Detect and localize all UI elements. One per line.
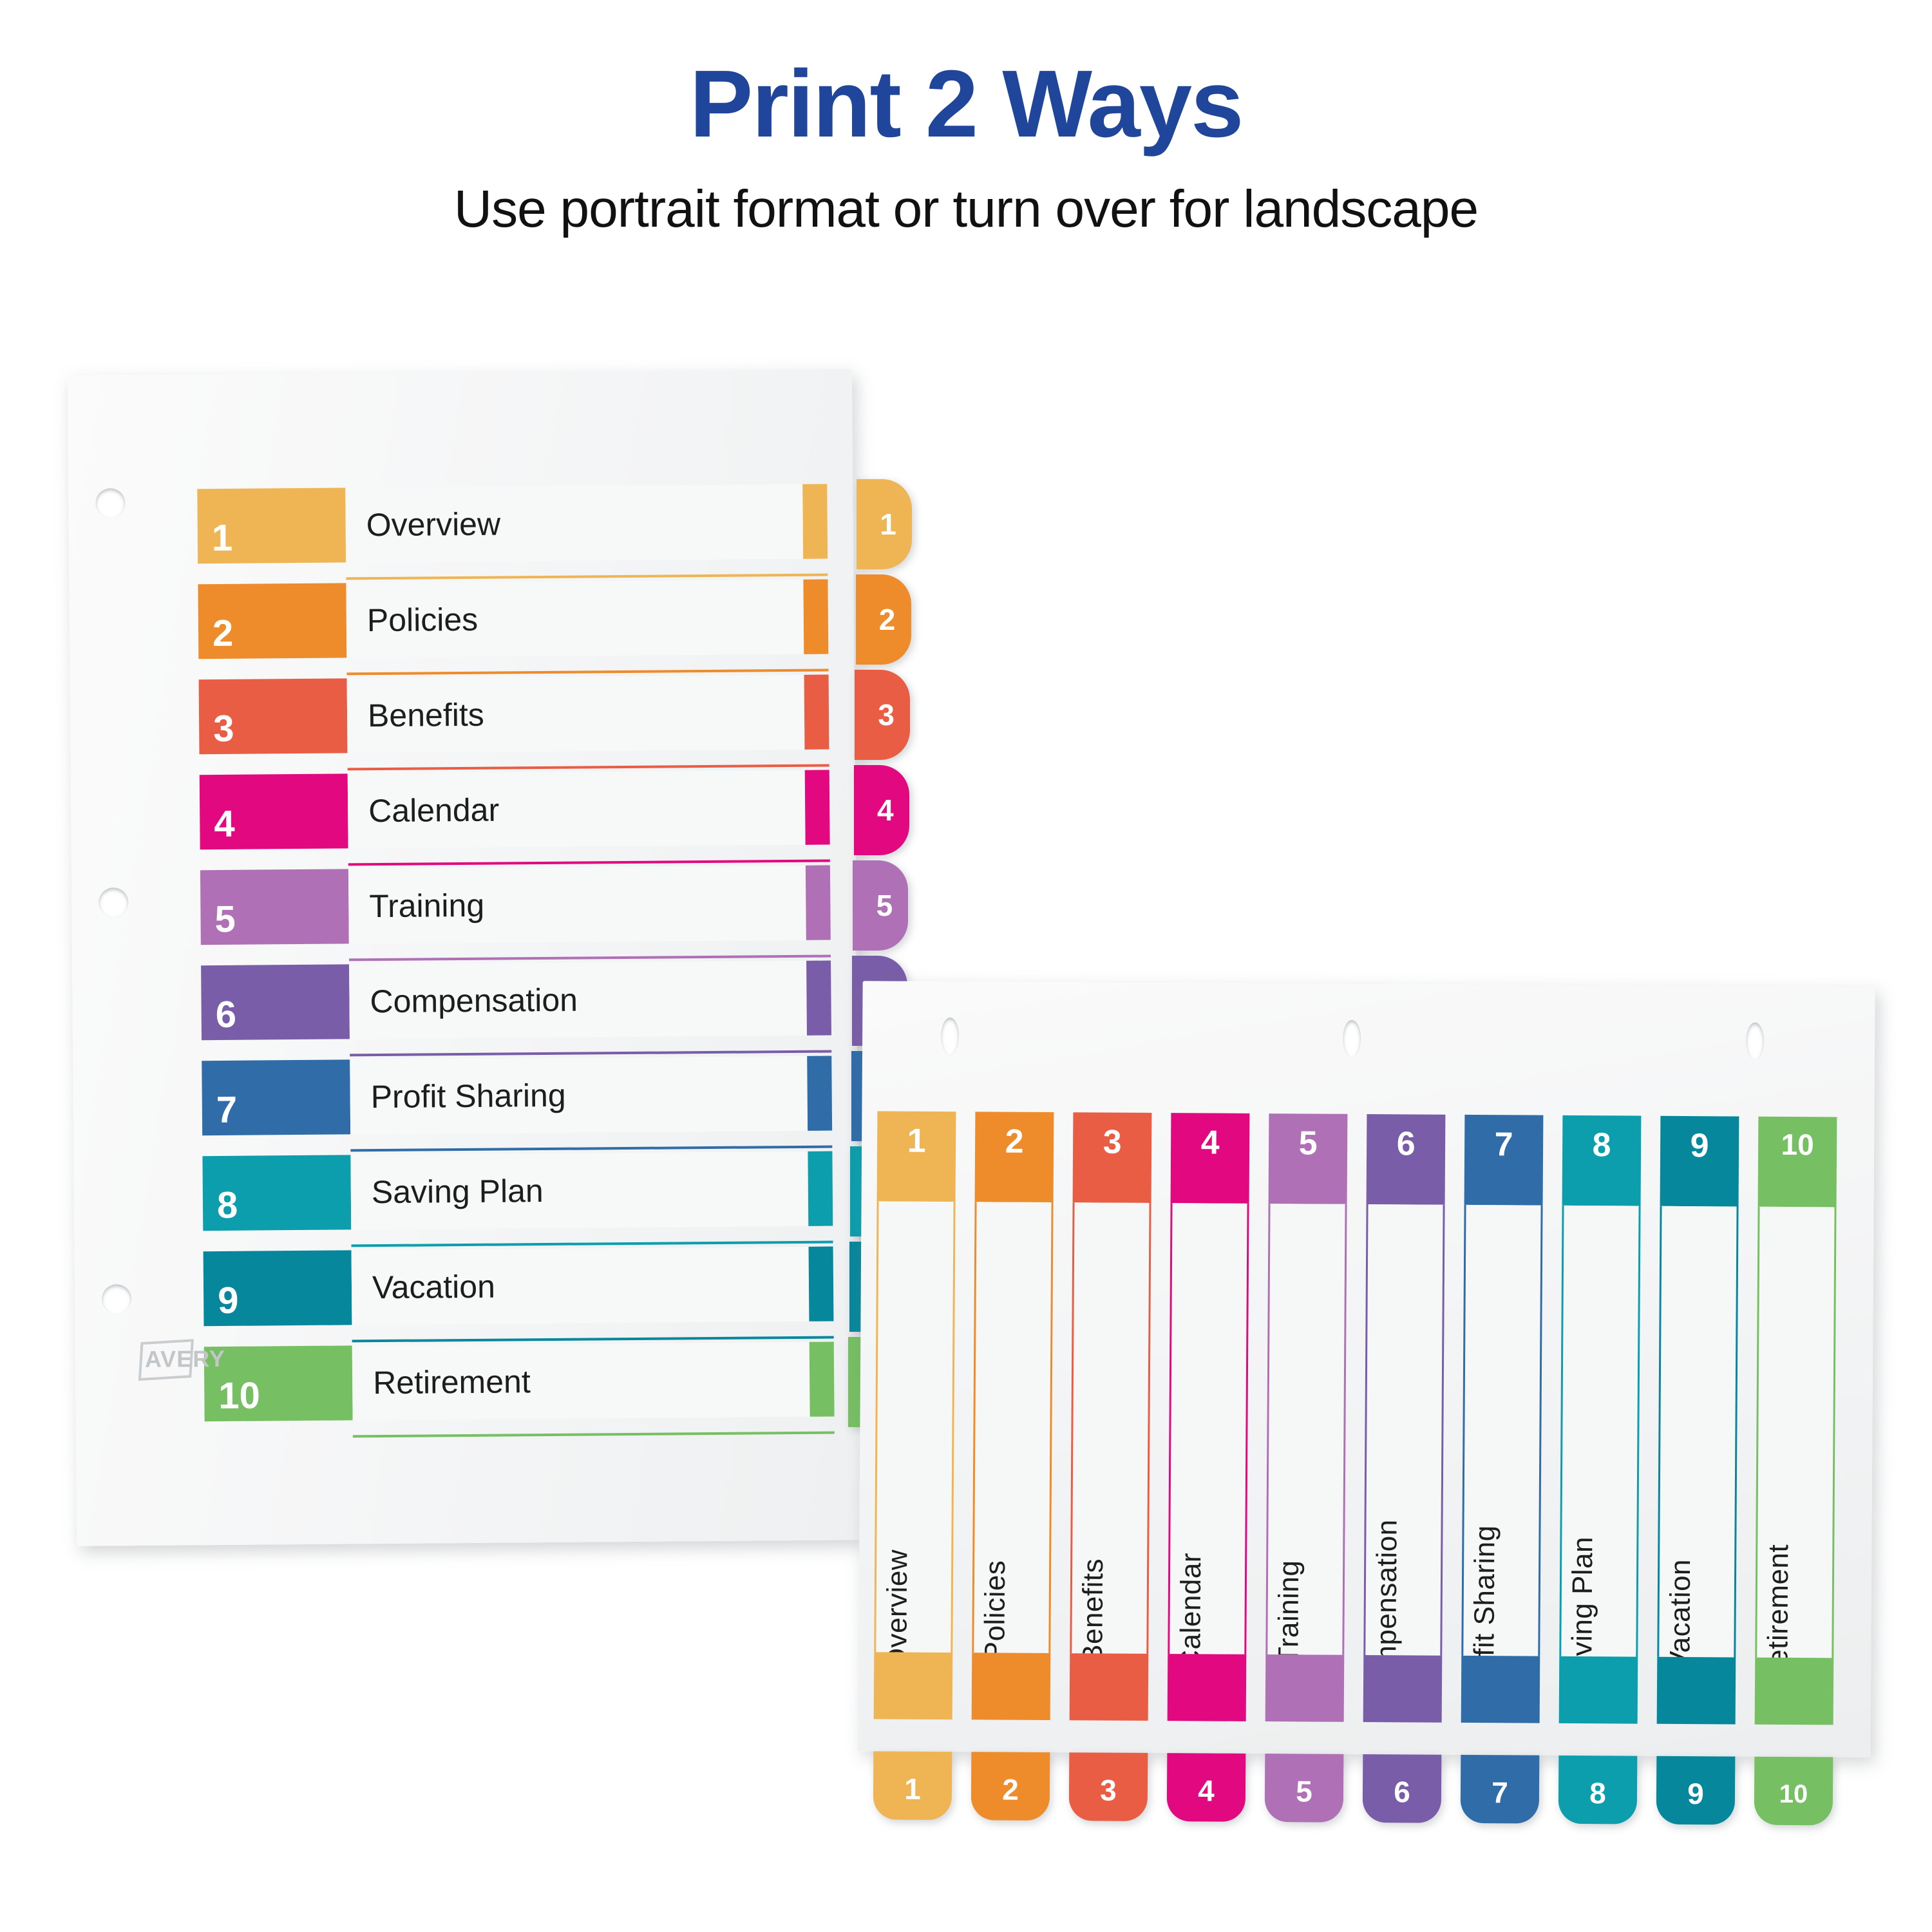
binder-hole-icon (95, 488, 125, 518)
divider-label: Profit Sharing (1468, 1525, 1502, 1656)
landscape-index-tab[interactable]: 1 (873, 1751, 952, 1820)
portrait-divider-row[interactable]: 8Saving Plan (202, 1146, 858, 1246)
binder-hole-icon (99, 887, 128, 917)
divider-foot-strip (874, 1652, 953, 1719)
landscape-divider-column[interactable]: 10Retirement (1754, 1117, 1837, 1748)
divider-edge-strip (804, 675, 829, 750)
divider-foot-strip (1265, 1654, 1345, 1722)
landscape-divider-column[interactable]: 4Calendar (1167, 1113, 1249, 1745)
divider-foot-strip (1363, 1655, 1443, 1723)
portrait-row-inner: 4Calendar (200, 770, 856, 849)
divider-label-panel: Overview (874, 1201, 955, 1653)
portrait-divider-row[interactable]: 6Compensation (201, 955, 857, 1056)
divider-number-block: 7 (202, 1059, 350, 1135)
divider-underline (353, 1432, 835, 1438)
divider-label: Training (1273, 1560, 1305, 1654)
header: Print 2 Ways Use portrait format or turn… (0, 0, 1932, 303)
divider-label-panel: Saving Plan (1559, 1206, 1640, 1657)
landscape-divider-column[interactable]: 3Benefits (1069, 1112, 1151, 1744)
portrait-row-inner: 6Compensation (201, 960, 857, 1040)
landscape-divider-column[interactable]: 6Compensation (1363, 1114, 1445, 1746)
divider-foot-strip (1070, 1653, 1149, 1721)
landscape-divider-column[interactable]: 2Policies (971, 1112, 1054, 1743)
landscape-divider-columns: 1Overview2Policies3Benefits4Calendar5Tra… (873, 1111, 1859, 1748)
divider-foot-strip (972, 1653, 1051, 1720)
landscape-index-tab[interactable]: 3 (1069, 1752, 1148, 1821)
divider-label: Compensation (349, 961, 807, 1039)
divider-label: Saving Plan (350, 1151, 808, 1230)
binder-hole-icon (1343, 1020, 1361, 1057)
divider-label: Retirement (1762, 1544, 1795, 1658)
divider-number-block: 3 (199, 678, 348, 754)
divider-label: Benefits (347, 675, 805, 753)
divider-label: Calendar (1175, 1553, 1207, 1654)
landscape-divider-column[interactable]: 9Vacation (1656, 1116, 1739, 1748)
divider-number-block: 6 (1367, 1114, 1446, 1205)
portrait-row-inner: 9Vacation (204, 1246, 860, 1326)
divider-label: Benefits (1077, 1558, 1110, 1654)
portrait-row-inner: 3Benefits (199, 674, 855, 754)
divider-number-block: 4 (1171, 1113, 1250, 1204)
portrait-index-tab[interactable]: 5 (853, 860, 908, 951)
divider-label: Saving Plan (1566, 1537, 1599, 1657)
divider-number-block: 1 (197, 488, 346, 563)
divider-number-block: 7 (1464, 1115, 1544, 1206)
portrait-row-inner: 8Saving Plan (202, 1151, 858, 1231)
divider-edge-strip (803, 580, 828, 654)
portrait-row-inner: 5Training (200, 865, 857, 945)
portrait-index-tab[interactable]: 3 (855, 670, 910, 760)
binder-hole-icon (941, 1018, 959, 1055)
portrait-row-inner: 2Policies (198, 579, 854, 659)
divider-label: Vacation (352, 1247, 810, 1325)
portrait-divider-row[interactable]: 3Benefits (199, 669, 855, 770)
portrait-row-inner: 1Overview (197, 484, 853, 563)
divider-label-panel: Retirement (1755, 1207, 1836, 1658)
divider-number-block: 9 (204, 1250, 352, 1326)
portrait-divider-row[interactable]: 5Training (200, 860, 857, 960)
divider-label-panel: Benefits (1070, 1202, 1151, 1654)
divider-edge-strip (802, 484, 828, 559)
portrait-divider-row[interactable]: 10Retirement (204, 1336, 860, 1437)
landscape-index-tab[interactable]: 9 (1656, 1756, 1736, 1825)
divider-number-block: 5 (1269, 1113, 1348, 1204)
portrait-row-inner: 10Retirement (204, 1341, 860, 1421)
landscape-divider-column[interactable]: 8Saving Plan (1558, 1115, 1641, 1747)
divider-label: Retirement (352, 1342, 810, 1421)
divider-number-block: 1 (877, 1111, 956, 1202)
portrait-row-inner: 7Profit Sharing (202, 1056, 858, 1135)
divider-number-block: 4 (200, 773, 348, 849)
divider-edge-strip (805, 770, 830, 845)
divider-label: Policies (979, 1560, 1012, 1653)
binder-hole-icon (102, 1284, 131, 1314)
portrait-divider-row[interactable]: 2Policies (198, 574, 854, 674)
landscape-index-tab[interactable]: 8 (1558, 1756, 1638, 1824)
landscape-index-tab[interactable]: 10 (1754, 1757, 1833, 1826)
divider-label-panel: Compensation (1363, 1204, 1444, 1656)
landscape-divider-column[interactable]: 7Profit Sharing (1461, 1115, 1543, 1747)
landscape-divider-column[interactable]: 5Training (1265, 1113, 1347, 1745)
landscape-index-tab[interactable]: 5 (1265, 1754, 1344, 1823)
divider-number-block: 3 (1073, 1112, 1152, 1203)
divider-label-panel: Vacation (1657, 1206, 1738, 1658)
divider-number-block: 9 (1660, 1116, 1739, 1207)
landscape-index-tab[interactable]: 2 (971, 1752, 1050, 1821)
page-subhead: Use portrait format or turn over for lan… (0, 152, 1932, 237)
portrait-index-tab[interactable]: 2 (856, 574, 911, 665)
avery-logo-text: AVERY (145, 1345, 225, 1373)
divider-foot-strip (1755, 1658, 1834, 1725)
divider-label: Calendar (348, 770, 806, 849)
divider-label-panel: Policies (972, 1202, 1053, 1653)
divider-number-block: 8 (1562, 1115, 1642, 1206)
divider-number-block: 6 (201, 964, 350, 1040)
portrait-divider-row[interactable]: 4Calendar (200, 764, 856, 865)
divider-edge-strip (808, 1151, 833, 1226)
divider-number-block: 10 (1758, 1117, 1837, 1207)
divider-foot-strip (1168, 1654, 1247, 1721)
divider-edge-strip (807, 1056, 832, 1131)
landscape-index-tab[interactable]: 4 (1167, 1753, 1246, 1822)
divider-label: Compensation (1370, 1519, 1404, 1656)
portrait-divider-row[interactable]: 9Vacation (204, 1241, 860, 1341)
portrait-divider-row[interactable]: 7Profit Sharing (202, 1050, 858, 1151)
landscape-index-tab[interactable]: 7 (1461, 1755, 1540, 1824)
binder-hole-icon (1746, 1023, 1764, 1060)
divider-number-block: 5 (200, 869, 349, 945)
divider-label: Overview (881, 1549, 914, 1653)
divider-label: Training (348, 866, 806, 944)
divider-label-panel: Calendar (1168, 1203, 1249, 1654)
divider-label-panel: Profit Sharing (1461, 1205, 1542, 1656)
divider-foot-strip (1559, 1656, 1638, 1724)
divider-label: Policies (346, 580, 804, 658)
divider-edge-strip (806, 866, 831, 940)
portrait-divider-sheet: 1Overview2Policies3Benefits4Calendar5Tra… (68, 369, 861, 1546)
landscape-index-tab[interactable]: 6 (1363, 1754, 1442, 1823)
portrait-index-tab[interactable]: 4 (854, 765, 909, 855)
portrait-divider-row[interactable]: 1Overview (197, 478, 853, 579)
landscape-divider-column[interactable]: 1Overview (873, 1111, 956, 1743)
divider-number-block: 2 (198, 583, 346, 659)
divider-label-panel: Training (1265, 1204, 1347, 1655)
divider-number-block: 8 (202, 1155, 351, 1231)
divider-foot-strip (1461, 1656, 1540, 1723)
page-headline: Print 2 Ways (0, 0, 1932, 152)
divider-number-block: 2 (975, 1112, 1054, 1202)
landscape-divider-sheet: 1Overview2Policies3Benefits4Calendar5Tra… (858, 981, 1875, 1757)
avery-logo: AVERY (140, 1340, 236, 1374)
divider-edge-strip (809, 1247, 834, 1321)
divider-foot-strip (1657, 1657, 1736, 1725)
divider-label: Vacation (1664, 1559, 1697, 1658)
portrait-index-tab[interactable]: 1 (857, 479, 912, 569)
divider-label: Overview (345, 484, 803, 563)
divider-edge-strip (806, 961, 831, 1036)
portrait-divider-list: 1Overview2Policies3Benefits4Calendar5Tra… (197, 478, 860, 1437)
divider-label: Profit Sharing (350, 1056, 808, 1135)
divider-edge-strip (810, 1342, 835, 1417)
